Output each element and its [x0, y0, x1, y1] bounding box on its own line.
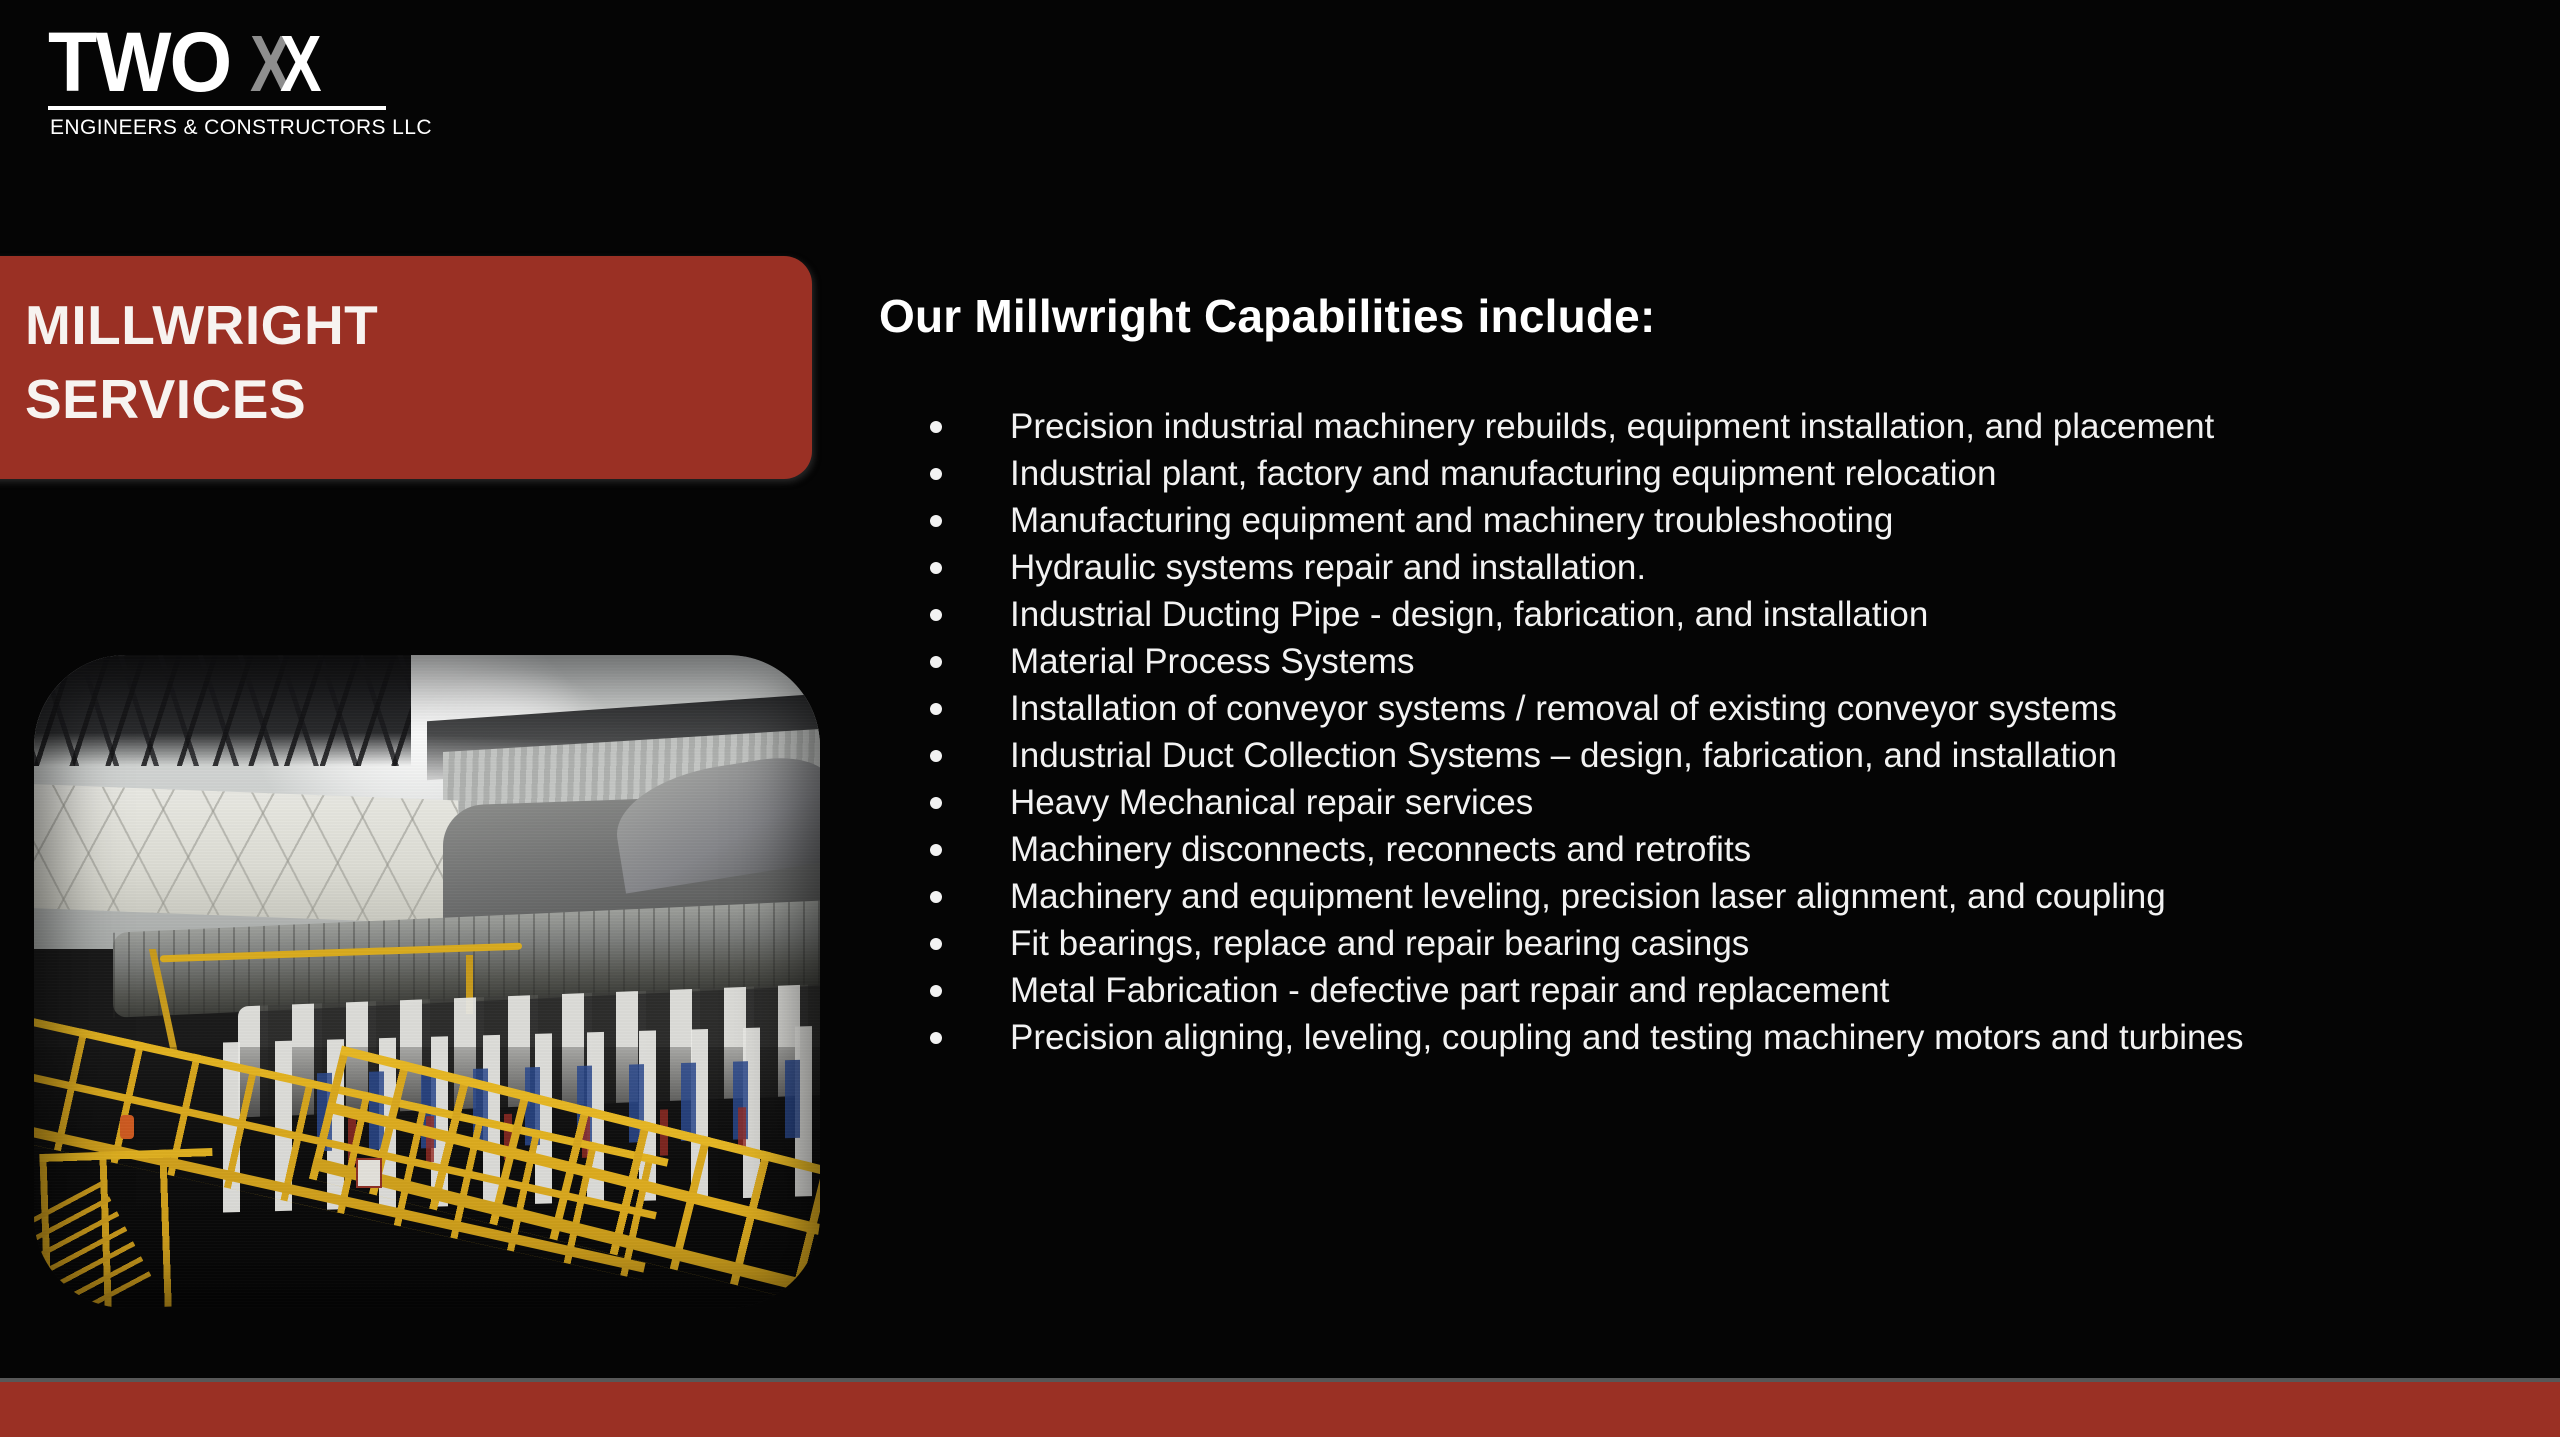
industrial-facility-photo — [34, 655, 820, 1308]
bullet-dot-icon — [930, 750, 942, 762]
logo-x-white-icon: X — [280, 24, 322, 104]
bullet-dot-icon — [930, 609, 942, 621]
list-item-label: Industrial Ducting Pipe - design, fabric… — [1010, 595, 1928, 634]
list-item-label: Industrial Duct Collection Systems – des… — [1010, 736, 2117, 775]
list-item: Hydraulic systems repair and installatio… — [879, 544, 2519, 591]
capabilities-list: Precision industrial machinery rebuilds,… — [879, 403, 2519, 1061]
list-item: Precision industrial machinery rebuilds,… — [879, 403, 2519, 450]
logo-wordmark: TWO X X — [48, 22, 388, 104]
bullet-dot-icon — [930, 1032, 942, 1044]
bullet-dot-icon — [930, 421, 942, 433]
list-item: Heavy Mechanical repair services — [879, 779, 2519, 826]
list-item: Machinery disconnects, reconnects and re… — [879, 826, 2519, 873]
list-item: Industrial Duct Collection Systems – des… — [879, 732, 2519, 779]
list-item-label: Installation of conveyor systems / remov… — [1010, 689, 2117, 728]
bullet-dot-icon — [930, 656, 942, 668]
list-item-label: Metal Fabrication - defective part repai… — [1010, 971, 1889, 1010]
bullet-dot-icon — [930, 515, 942, 527]
list-item-label: Precision aligning, leveling, coupling a… — [1010, 1018, 2243, 1057]
bullet-dot-icon — [930, 468, 942, 480]
bullet-dot-icon — [930, 797, 942, 809]
list-item: Metal Fabrication - defective part repai… — [879, 967, 2519, 1014]
list-item: Manufacturing equipment and machinery tr… — [879, 497, 2519, 544]
logo-primary-text: TWO — [48, 20, 230, 104]
capabilities-heading: Our Millwright Capabilities include: — [879, 288, 1656, 344]
photo-vignette-overlay — [34, 655, 820, 1308]
bullet-dot-icon — [930, 703, 942, 715]
bullet-dot-icon — [930, 985, 942, 997]
bullet-dot-icon — [930, 938, 942, 950]
bullet-dot-icon — [930, 891, 942, 903]
photo-content — [34, 655, 820, 1308]
list-item: Installation of conveyor systems / remov… — [879, 685, 2519, 732]
list-item-label: Fit bearings, replace and repair bearing… — [1010, 924, 1749, 963]
section-title-text: MILLWRIGHT SERVICES — [25, 288, 378, 436]
list-item-label: Precision industrial machinery rebuilds,… — [1010, 407, 2214, 446]
company-logo: TWO X X ENGINEERS & CONSTRUCTORS LLC — [48, 22, 398, 144]
list-item-label: Machinery and equipment leveling, precis… — [1010, 877, 2166, 916]
list-item: Industrial plant, factory and manufactur… — [879, 450, 2519, 497]
list-item-label: Machinery disconnects, reconnects and re… — [1010, 830, 1751, 869]
logo-double-x-mark: X X — [250, 24, 390, 104]
list-item-label: Hydraulic systems repair and installatio… — [1010, 548, 1646, 587]
section-title-banner: MILLWRIGHT SERVICES — [0, 256, 812, 479]
bullet-dot-icon — [930, 562, 942, 574]
list-item: Machinery and equipment leveling, precis… — [879, 873, 2519, 920]
list-item-label: Heavy Mechanical repair services — [1010, 783, 1533, 822]
logo-divider-rule — [48, 106, 386, 110]
list-item-label: Industrial plant, factory and manufactur… — [1010, 454, 1996, 493]
list-item: Material Process Systems — [879, 638, 2519, 685]
footer-accent-bar — [0, 1382, 2560, 1437]
presentation-slide: TWO X X ENGINEERS & CONSTRUCTORS LLC MIL… — [0, 0, 2560, 1437]
list-item: Precision aligning, leveling, coupling a… — [879, 1014, 2519, 1061]
list-item-label: Manufacturing equipment and machinery tr… — [1010, 501, 1893, 540]
list-item: Fit bearings, replace and repair bearing… — [879, 920, 2519, 967]
list-item: Industrial Ducting Pipe - design, fabric… — [879, 591, 2519, 638]
list-item-label: Material Process Systems — [1010, 642, 1415, 681]
logo-subtitle: ENGINEERS & CONSTRUCTORS LLC — [50, 116, 432, 140]
bullet-dot-icon — [930, 844, 942, 856]
